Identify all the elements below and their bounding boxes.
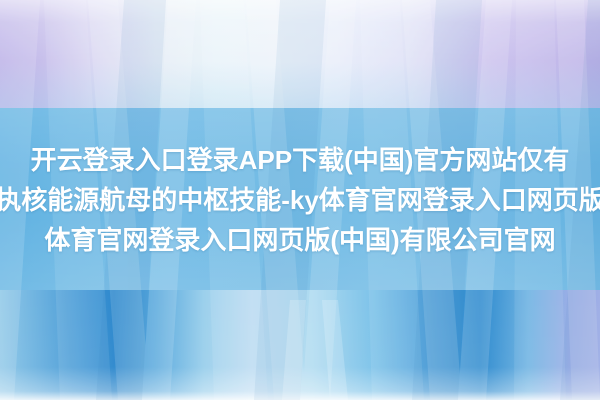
background-bottom-gradient <box>0 290 600 400</box>
background-top-sheen <box>0 0 600 112</box>
headline-line-3: 体育官网登录入口网页版(中国)有限公司官网 <box>44 221 555 259</box>
headline-line-1: 开云登录入口登录APP下载(中国)官方网站仅有 <box>31 141 570 179</box>
promo-banner: 开云登录入口登录APP下载(中国)官方网站仅有 执核能源航母的中枢技能-ky体育… <box>0 0 600 400</box>
headline-line-2: 执核能源航母的中枢技能-ky体育官网登录入口网页版 <box>0 181 600 219</box>
headline-block: 开云登录入口登录APP下载(中国)官方网站仅有 执核能源航母的中枢技能-ky体育… <box>0 108 600 292</box>
background-bottom-fade <box>0 290 600 400</box>
background-top-gradient <box>0 0 600 112</box>
